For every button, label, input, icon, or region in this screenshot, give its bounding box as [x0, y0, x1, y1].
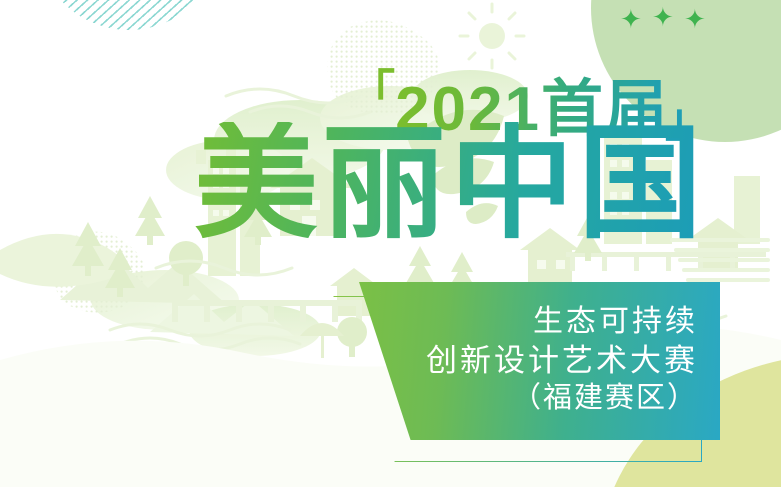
poster-canvas: ✦ ✦ ✦ 「2021首届」 美丽中国 生态可持续 创新设计艺术大赛 （福建赛区… — [0, 0, 781, 487]
banner-line-2: 创新设计艺术大赛 — [426, 341, 698, 380]
banner-line-3: （福建赛区） — [512, 380, 698, 417]
page-title: 美丽中国 — [0, 122, 706, 246]
subtitle-banner-group: 生态可持续 创新设计艺术大赛 （福建赛区） — [318, 282, 718, 462]
banner-line-1: 生态可持续 — [533, 303, 698, 341]
